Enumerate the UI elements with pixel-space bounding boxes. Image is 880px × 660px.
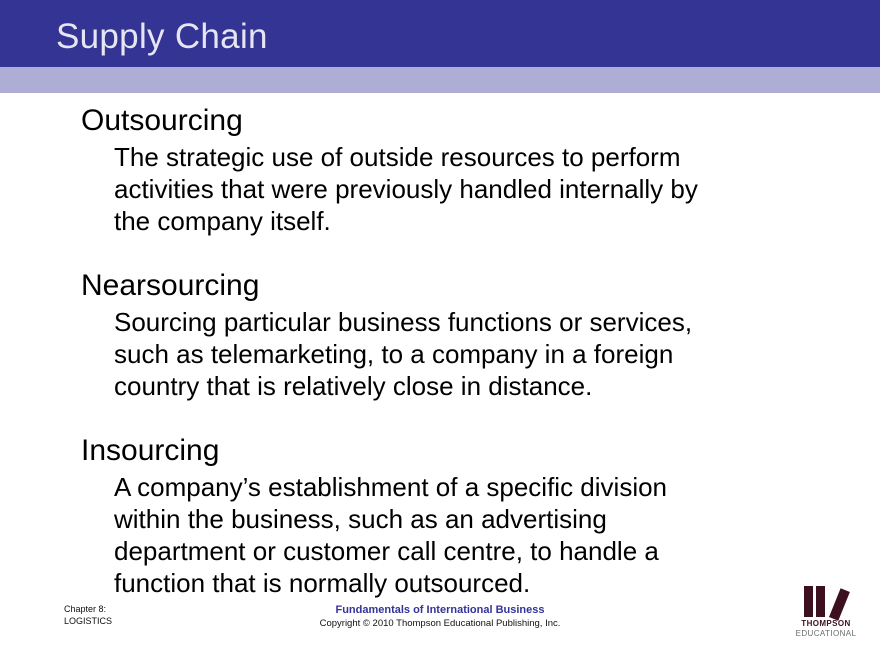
book-title: Fundamentals of International Business xyxy=(0,603,880,617)
concept-block-outsourcing: Outsourcing The strategic use of outside… xyxy=(0,100,880,237)
definition-line: function that is normally outsourced. xyxy=(114,567,814,599)
concept-block-insourcing: Insourcing A company’s establishment of … xyxy=(0,430,880,599)
slide-title: Supply Chain xyxy=(56,17,268,57)
publisher-logo: THOMPSON EDUCATIONAL xyxy=(780,586,872,648)
definition-line: such as telemarketing, to a company in a… xyxy=(114,338,814,370)
definition-line: the company itself. xyxy=(114,205,814,237)
concept-definition: The strategic use of outside resources t… xyxy=(0,141,814,237)
credits-block: Fundamentals of International Business C… xyxy=(0,603,880,630)
concept-heading: Nearsourcing xyxy=(0,265,880,306)
books-icon xyxy=(802,586,850,617)
book-bar-icon xyxy=(804,586,813,617)
concept-heading: Insourcing xyxy=(0,430,880,471)
definition-line: within the business, such as an advertis… xyxy=(114,503,814,535)
section-spacer xyxy=(0,243,880,265)
book-bar-icon xyxy=(816,586,825,617)
presentation-slide: Supply Chain Outsourcing The strategic u… xyxy=(0,0,880,660)
slide-content: Outsourcing The strategic use of outside… xyxy=(0,100,880,605)
slide-accent-band xyxy=(0,67,880,93)
book-tilted-icon xyxy=(829,588,850,620)
definition-line: department or customer call centre, to h… xyxy=(114,535,814,567)
section-spacer xyxy=(0,408,880,430)
definition-line: country that is relatively close in dist… xyxy=(114,370,814,402)
logo-wordmark: THOMPSON xyxy=(780,619,872,629)
definition-line: Sourcing particular business functions o… xyxy=(114,306,814,338)
definition-line: The strategic use of outside resources t… xyxy=(114,141,814,173)
concept-definition: A company’s establishment of a specific … xyxy=(0,471,814,599)
definition-line: A company’s establishment of a specific … xyxy=(114,471,814,503)
concept-block-nearsourcing: Nearsourcing Sourcing particular busines… xyxy=(0,265,880,402)
concept-definition: Sourcing particular business functions o… xyxy=(0,306,814,402)
logo-subtitle: EDUCATIONAL xyxy=(780,629,872,639)
concept-heading: Outsourcing xyxy=(0,100,880,141)
definition-line: activities that were previously handled … xyxy=(114,173,814,205)
copyright-notice: Copyright © 2010 Thompson Educational Pu… xyxy=(0,617,880,630)
slide-footer: Chapter 8: LOGISTICS Fundamentals of Int… xyxy=(0,598,880,660)
